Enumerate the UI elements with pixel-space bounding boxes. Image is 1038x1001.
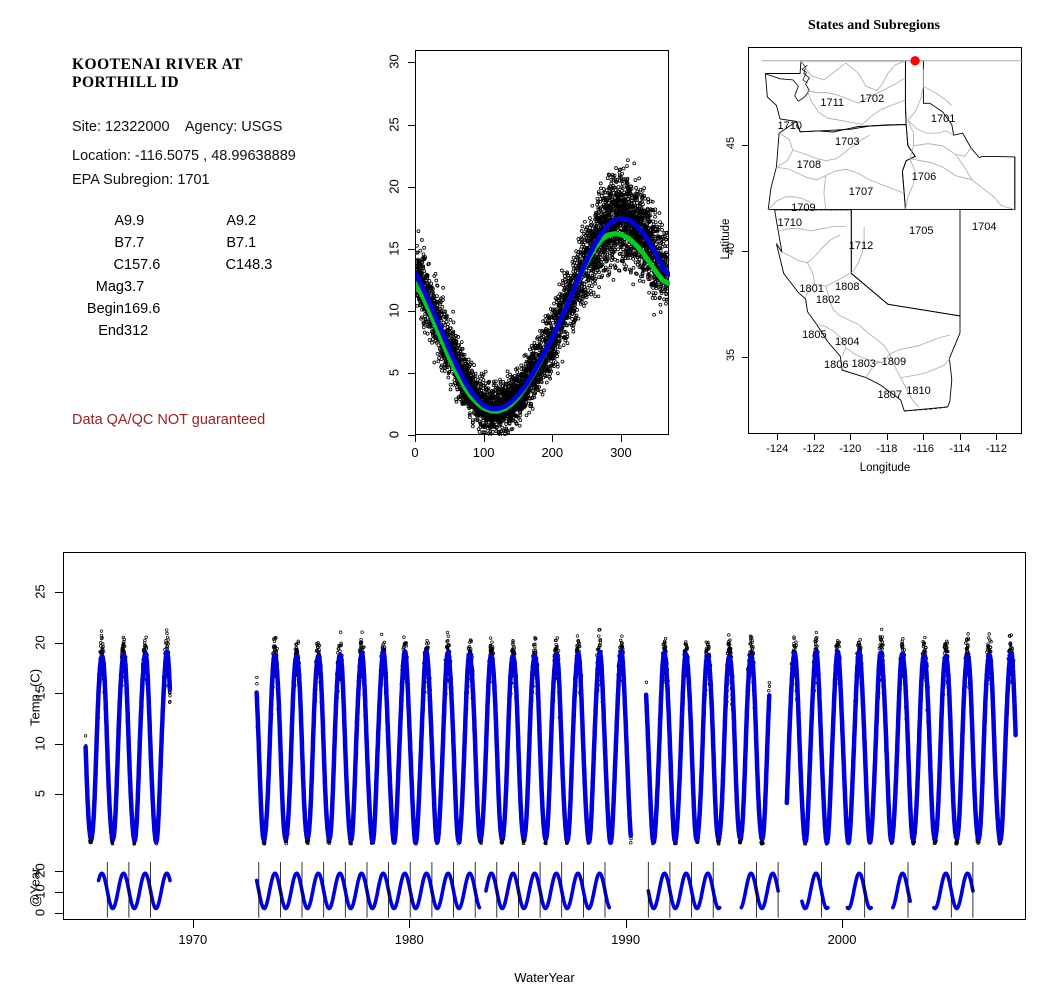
ts-x-axis-label: WaterYear — [63, 970, 1026, 985]
subpanel-y-tick — [55, 913, 63, 914]
map-plot-frame: 1711171017021701170317081706170717091710… — [748, 47, 1022, 434]
parameter-value: 157.6 — [124, 257, 202, 279]
parameter-value2 — [236, 323, 272, 345]
ts-y-axis-label: Temp. (C) — [28, 660, 43, 736]
parameter-label: C — [72, 257, 124, 279]
map-y-tick-label: 45 — [725, 132, 737, 154]
seasonal-plot-frame — [415, 50, 669, 435]
map-y-tick — [742, 145, 748, 146]
map-x-tick — [777, 434, 778, 440]
parameter-row: A9.9A9.2 — [72, 213, 272, 235]
ts-y-tick-label: 20 — [33, 629, 48, 655]
y-tick — [408, 373, 415, 374]
x-tick — [484, 435, 485, 442]
subregion-label-1707: 1707 — [846, 186, 876, 198]
location-line: Location: -116.5075 , 48.99638889 — [72, 148, 296, 164]
x-tick-label: 200 — [530, 445, 574, 460]
y-tick — [408, 125, 415, 126]
parameter-value2: 7.1 — [236, 235, 272, 257]
parameter-label2: B — [202, 235, 236, 257]
subregion-label-1810: 1810 — [904, 385, 934, 397]
parameter-label2 — [202, 279, 236, 301]
parameter-row: B7.7B7.1 — [72, 235, 272, 257]
y-tick-label: 0 — [387, 423, 402, 447]
map-y-tick-label: 35 — [725, 344, 737, 366]
subregion-line: EPA Subregion: 1701 — [72, 172, 210, 188]
map-x-tick-label: -122 — [794, 443, 834, 455]
y-tick — [408, 249, 415, 250]
page-title: KOOTENAI RIVER AT PORTHILL ID — [72, 56, 372, 92]
y-tick — [408, 435, 415, 436]
x-tick — [621, 435, 622, 442]
map-x-tick-label: -118 — [867, 443, 907, 455]
parameter-label2 — [202, 301, 236, 323]
ts-x-tick-label: 1990 — [598, 932, 654, 947]
parameter-row: Begin169.6 — [72, 301, 272, 323]
subregion-label-1708: 1708 — [794, 159, 824, 171]
seasonal-scatter-panel: 0100200300051015202530 — [370, 0, 710, 500]
y-tick — [408, 311, 415, 312]
parameter-label: A — [72, 213, 124, 235]
ts-x-tick-label: 1980 — [381, 932, 437, 947]
map-panel: States and Subregions 171117101702170117… — [710, 0, 1038, 500]
subpanel-y-tick — [55, 892, 63, 893]
parameter-label2: C — [202, 257, 236, 279]
parameter-label: B — [72, 235, 124, 257]
x-tick-label: 0 — [393, 445, 437, 460]
map-x-axis-label: Longitude — [748, 462, 1022, 474]
subregion-label-1702: 1702 — [857, 93, 887, 105]
subregion-label-1710: 1710 — [775, 120, 805, 132]
ts-y-tick — [55, 643, 63, 644]
qa-qc-warning: Data QA/QC NOT guaranteed — [72, 412, 265, 428]
subregion-label-1711: 1711 — [817, 97, 847, 109]
x-tick — [415, 435, 416, 442]
x-tick-label: 300 — [599, 445, 643, 460]
parameter-value2 — [236, 301, 272, 323]
subregion-label-1803: 1803 — [849, 358, 879, 370]
subregion-label-1703: 1703 — [832, 136, 862, 148]
ts-y-tick — [55, 592, 63, 593]
map-title: States and Subregions — [710, 18, 1038, 34]
site-agency-line: Site: 12322000 Agency: USGS — [72, 119, 282, 135]
x-tick — [552, 435, 553, 442]
map-x-tick — [960, 434, 961, 440]
seasonal-scatter-canvas — [416, 51, 670, 436]
parameter-row: End312 — [72, 323, 272, 345]
parameter-label: Begin — [72, 301, 124, 323]
y-tick-label: 10 — [387, 298, 402, 322]
parameter-row: Mag3.7 — [72, 279, 272, 301]
subpanel-y-tick — [55, 871, 63, 872]
site-marker — [911, 57, 919, 65]
y-tick-label: 25 — [387, 112, 402, 136]
subregion-label-1805: 1805 — [799, 329, 829, 341]
ts-y-tick — [55, 693, 63, 694]
subregion-label-1801: 1801 — [797, 283, 827, 295]
ts-x-tick — [193, 920, 194, 928]
timeseries-canvas — [64, 553, 1027, 921]
ts-y-tick — [55, 744, 63, 745]
map-x-tick — [923, 434, 924, 440]
subregion-label-1807: 1807 — [875, 389, 905, 401]
ts-y-tick-label: 5 — [33, 781, 48, 807]
y-tick-label: 15 — [387, 236, 402, 260]
subregion-label-1710: 1710 — [775, 217, 805, 229]
parameter-value: 7.7 — [124, 235, 202, 257]
map-x-tick-label: -120 — [830, 443, 870, 455]
parameter-table: A9.9A9.2B7.7B7.1C157.6C148.3Mag3.7Begin1… — [72, 213, 272, 345]
map-x-tick — [996, 434, 997, 440]
ts-x-tick — [626, 920, 627, 928]
ts-x-tick — [842, 920, 843, 928]
parameter-table-body: A9.9A9.2B7.7B7.1C157.6C148.3Mag3.7Begin1… — [72, 213, 272, 345]
map-x-tick — [850, 434, 851, 440]
subregion-label-1808: 1808 — [832, 281, 862, 293]
subregion-label-1804: 1804 — [832, 336, 862, 348]
map-x-tick-label: -112 — [976, 443, 1016, 455]
subregion-label-1704: 1704 — [969, 221, 999, 233]
map-x-tick-label: -124 — [757, 443, 797, 455]
subregion-label-1712: 1712 — [846, 240, 876, 252]
parameter-value2: 9.2 — [236, 213, 272, 235]
x-tick-label: 100 — [462, 445, 506, 460]
parameter-row: C157.6C148.3 — [72, 257, 272, 279]
parameter-value: 9.9 — [124, 213, 202, 235]
parameter-value: 169.6 — [124, 301, 202, 323]
subregion-label-1809: 1809 — [879, 356, 909, 368]
map-canvas — [749, 48, 1023, 435]
y-tick-label: 20 — [387, 174, 402, 198]
map-x-tick — [887, 434, 888, 440]
timeseries-panel: 197019801990200051015202501020WaterYearT… — [0, 500, 1038, 1001]
parameter-value: 3.7 — [124, 279, 202, 301]
map-x-tick-label: -116 — [903, 443, 943, 455]
ts-x-tick — [409, 920, 410, 928]
parameter-value2: 148.3 — [236, 257, 272, 279]
parameter-label2: A — [202, 213, 236, 235]
subregion-label-1709: 1709 — [788, 202, 818, 214]
y-tick — [408, 62, 415, 63]
site-info-panel: KOOTENAI RIVER AT PORTHILL ID Site: 1232… — [0, 0, 370, 500]
map-y-tick — [742, 251, 748, 252]
parameter-value2 — [236, 279, 272, 301]
ts-y-tick-label: 25 — [33, 579, 48, 605]
timeseries-plot-frame — [63, 552, 1026, 920]
parameter-label: Mag — [72, 279, 124, 301]
subregion-label-1701: 1701 — [928, 113, 958, 125]
subpanel-y-axis-label: @Year — [28, 849, 43, 925]
subregion-label-1802: 1802 — [813, 294, 843, 306]
y-tick-label: 5 — [387, 360, 402, 384]
ts-x-tick-label: 1970 — [165, 932, 221, 947]
map-x-tick-label: -114 — [940, 443, 980, 455]
parameter-label2 — [202, 323, 236, 345]
subregion-label-1705: 1705 — [906, 225, 936, 237]
ts-x-tick-label: 2000 — [814, 932, 870, 947]
y-tick — [408, 187, 415, 188]
subregion-label-1706: 1706 — [909, 171, 939, 183]
ts-y-tick — [55, 794, 63, 795]
map-y-tick — [742, 357, 748, 358]
parameter-value: 312 — [124, 323, 202, 345]
parameter-label: End — [72, 323, 124, 345]
map-x-tick — [814, 434, 815, 440]
map-y-axis-label: Latitude — [720, 209, 732, 269]
y-tick-label: 30 — [387, 50, 402, 74]
subregion-label-1806: 1806 — [821, 359, 851, 371]
